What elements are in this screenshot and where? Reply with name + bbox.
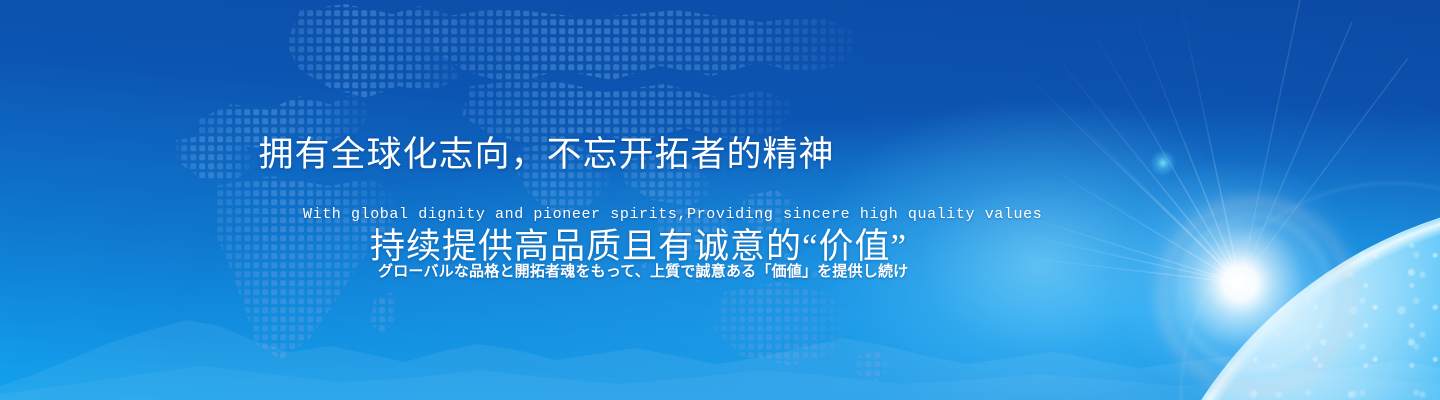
subtitle-japanese: グローバルな品格と開拓者魂をもって、上質で誠意ある「価値」を提供し続け — [378, 260, 908, 281]
headline: 拥有全球化志向，不忘开拓者的精神 持续提供高品质且有诚意的“价值” — [200, 86, 907, 362]
hero-banner: 拥有全球化志向，不忘开拓者的精神 持续提供高品质且有诚意的“价值” With g… — [0, 0, 1440, 400]
banner-copy: 拥有全球化志向，不忘开拓者的精神 持续提供高品质且有诚意的“价值” With g… — [0, 0, 1440, 400]
subtitle-english: With global dignity and pioneer spirits,… — [303, 206, 1042, 223]
headline-line-1: 拥有全球化志向，不忘开拓者的精神 — [259, 135, 835, 174]
